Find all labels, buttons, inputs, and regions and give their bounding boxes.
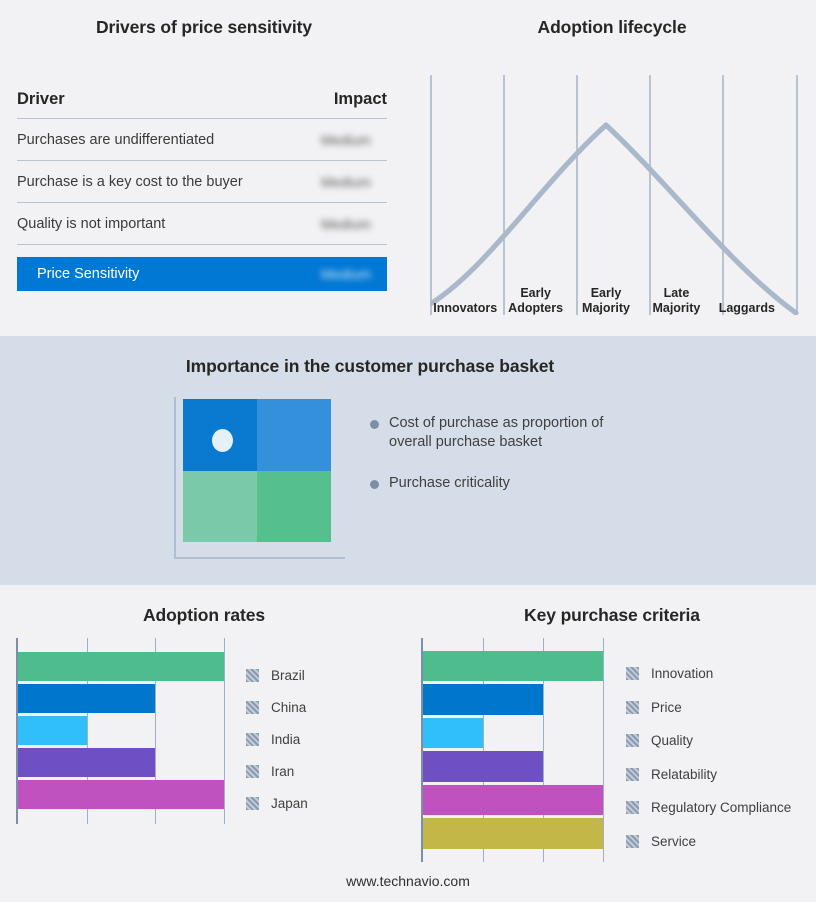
legend-label: Regulatory Compliance [651, 800, 791, 815]
legend-label: Quality [651, 733, 693, 748]
legend-label: India [271, 732, 300, 747]
table-row: Quality is not important Medium [17, 203, 387, 245]
footer-url: www.technavio.com [0, 873, 816, 889]
drivers-panel-title: Drivers of price sensitivity [0, 17, 408, 38]
legend-item: Brazil [246, 659, 308, 691]
legend-label: Purchase criticality [389, 474, 510, 493]
hatched-swatch-icon [246, 733, 259, 746]
key-purchase-criteria-title: Key purchase criteria [408, 605, 816, 626]
quadrant-y-axis [174, 397, 176, 557]
quadrant-bottom-right [257, 471, 331, 543]
position-marker-icon [212, 429, 233, 452]
purchase-basket-quadrant-chart [183, 399, 343, 554]
segment-line-1: Early [500, 286, 570, 301]
bar [18, 780, 224, 809]
price-sensitivity-summary-row: Price Sensitivity Medium [17, 257, 387, 291]
impact-value: Medium [321, 174, 387, 190]
segment-line-2: Majority [571, 301, 641, 316]
impact-value: Medium [321, 216, 387, 232]
bar [423, 718, 483, 749]
bar [18, 716, 87, 745]
legend-item: Cost of purchase as proportion of overal… [370, 414, 670, 452]
segment-line-1: Early [571, 286, 641, 301]
bar [423, 751, 543, 782]
adoption-rates-bar-chart: BrazilChinaIndiaIranJapan [16, 638, 406, 853]
bar [423, 684, 543, 715]
hatched-swatch-icon [626, 734, 639, 747]
legend-label: Innovation [651, 666, 713, 681]
hatched-swatch-icon [626, 667, 639, 680]
legend-label: Service [651, 834, 696, 849]
legend-item: China [246, 691, 308, 723]
hatched-swatch-icon [246, 765, 259, 778]
hatched-swatch-icon [626, 701, 639, 714]
bar [423, 651, 603, 682]
legend-bullet-icon [370, 480, 379, 489]
segment-line-2: Adopters [500, 301, 570, 316]
gridline [603, 638, 604, 862]
bar [18, 748, 155, 777]
key-purchase-criteria-panel: Key purchase criteria InnovationPriceQua… [408, 585, 816, 875]
driver-label: Purchases are undifferentiated [17, 132, 214, 148]
lifecycle-segment-innovators: Innovators [430, 282, 500, 316]
legend-label: Relatability [651, 767, 717, 782]
chart-legend: BrazilChinaIndiaIranJapan [246, 659, 308, 819]
legend-label: Brazil [271, 668, 305, 683]
purchase-basket-title: Importance in the customer purchase bask… [0, 356, 740, 377]
quadrant-bottom-left [183, 471, 257, 543]
legend-label: China [271, 700, 306, 715]
hatched-swatch-icon [246, 669, 259, 682]
column-header-impact: Impact [334, 90, 387, 109]
bar [423, 818, 603, 849]
plot-area [16, 638, 224, 824]
lifecycle-segment-early-adopters: Early Adopters [500, 282, 570, 316]
legend-item: Quality [626, 724, 791, 758]
hatched-swatch-icon [626, 801, 639, 814]
legend-item: Japan [246, 787, 308, 819]
summary-driver-label: Price Sensitivity [37, 266, 139, 282]
impact-value: Medium [321, 132, 387, 148]
legend-item: Innovation [626, 657, 791, 691]
legend-label: Iran [271, 764, 294, 779]
quadrant-top-left [183, 399, 257, 471]
legend-item: Iran [246, 755, 308, 787]
hatched-swatch-icon [246, 701, 259, 714]
drivers-table-header: Driver Impact [17, 90, 387, 119]
drivers-table: Driver Impact Purchases are undifferenti… [17, 90, 387, 291]
lifecycle-segment-laggards: Laggards [712, 282, 782, 316]
legend-item: Price [626, 691, 791, 725]
drivers-panel: Drivers of price sensitivity Driver Impa… [0, 0, 408, 336]
hatched-swatch-icon [246, 797, 259, 810]
lifecycle-panel: Adoption lifecycle Innovators Early Adop… [408, 0, 816, 336]
adoption-rates-title: Adoption rates [0, 605, 408, 626]
bar [423, 785, 603, 816]
lifecycle-segment-late-majority: Late Majority [641, 282, 711, 316]
legend-label: Japan [271, 796, 308, 811]
lifecycle-segment-early-majority: Early Majority [571, 282, 641, 316]
segment-line-2: Laggards [712, 301, 782, 316]
legend-label: Cost of purchase as proportion of overal… [389, 414, 639, 452]
key-purchase-criteria-bar-chart: InnovationPriceQualityRelatabilityRegula… [421, 638, 816, 883]
bar [18, 684, 155, 713]
quadrant-top-right [257, 399, 331, 471]
segment-line-1: Late [641, 286, 711, 301]
adoption-lifecycle-curve-chart [430, 75, 800, 315]
legend-bullet-icon [370, 420, 379, 429]
purchase-basket-legend: Cost of purchase as proportion of overal… [370, 414, 670, 515]
driver-label: Purchase is a key cost to the buyer [17, 174, 243, 190]
hatched-swatch-icon [626, 768, 639, 781]
bar [18, 652, 224, 681]
table-row: Purchases are undifferentiated Medium [17, 119, 387, 161]
segment-line-2: Innovators [430, 301, 500, 316]
driver-label: Quality is not important [17, 216, 165, 232]
lifecycle-segment-labels: Innovators Early Adopters Early Majority… [430, 282, 782, 316]
legend-label: Price [651, 700, 682, 715]
chart-legend: InnovationPriceQualityRelatabilityRegula… [626, 657, 791, 858]
legend-item: Purchase criticality [370, 474, 670, 493]
summary-impact-value: Medium [321, 266, 387, 282]
column-header-driver: Driver [17, 90, 65, 109]
legend-item: India [246, 723, 308, 755]
legend-item: Regulatory Compliance [626, 791, 791, 825]
table-row: Purchase is a key cost to the buyer Medi… [17, 161, 387, 203]
gridline [224, 638, 225, 824]
lifecycle-panel-title: Adoption lifecycle [408, 17, 816, 38]
plot-area [421, 638, 603, 862]
hatched-swatch-icon [626, 835, 639, 848]
legend-item: Relatability [626, 758, 791, 792]
quadrant-grid [183, 399, 331, 542]
legend-item: Service [626, 825, 791, 859]
purchase-basket-band: Importance in the customer purchase bask… [0, 336, 816, 585]
segment-line-2: Majority [641, 301, 711, 316]
quadrant-x-axis [174, 557, 345, 559]
adoption-rates-panel: Adoption rates BrazilChinaIndiaIranJapan [0, 585, 408, 875]
